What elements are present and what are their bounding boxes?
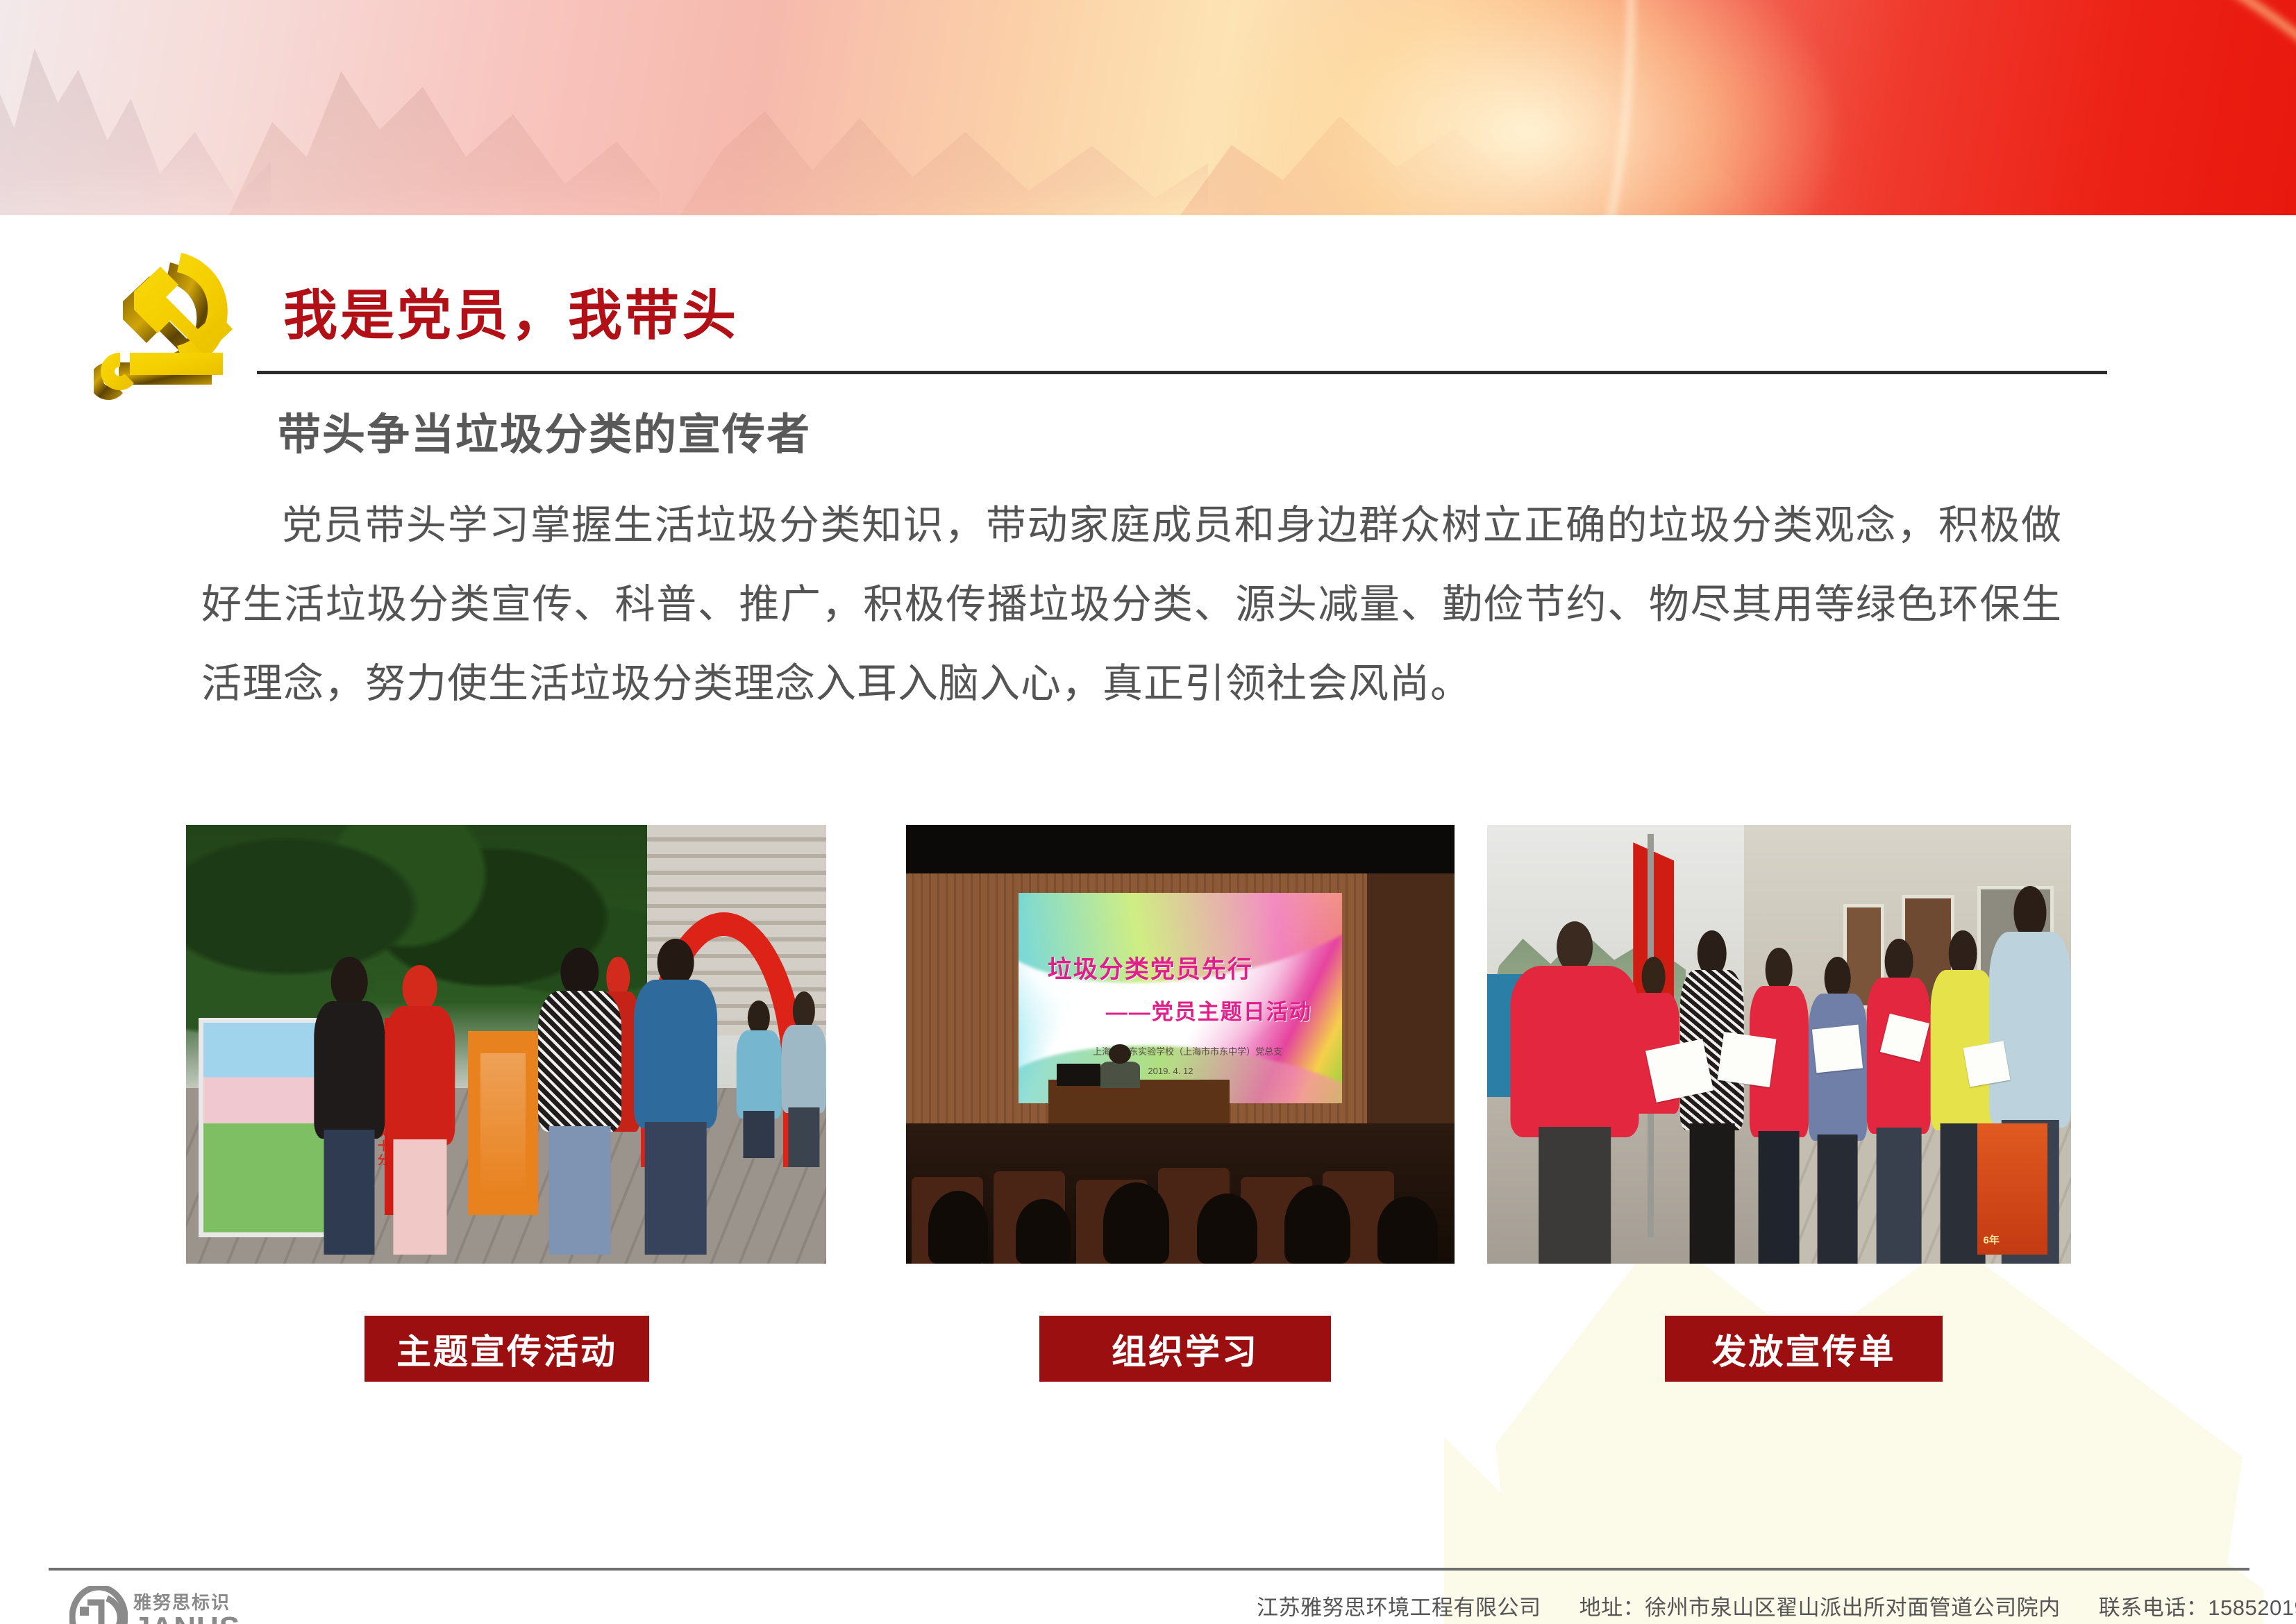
photo3-volunteer-2 [1750, 948, 1808, 1264]
caption-theme-campaign: 主题宣传活动 [364, 1316, 649, 1382]
footer-phone: 联系电话：15852019991 [2099, 1596, 2296, 1620]
photo1-person-3 [538, 948, 621, 1255]
party-hammer-sickle-emblem-icon [94, 249, 257, 401]
janus-circle-j-icon [69, 1586, 128, 1624]
slide-root: 我是党员，我带头 带头争当垃圾分类的宣传者 党员带头学习掌握生活垃圾分类知识，带… [0, 0, 2296, 1624]
photo2-ceiling [906, 825, 1455, 873]
photo2-screen-date: 2019. 4. 12 [1148, 1066, 1193, 1076]
photo3-leaflet [1718, 1032, 1777, 1087]
photo2-audience-head [1103, 1182, 1169, 1264]
photo3-shopping-bag: 6年 [1977, 1123, 2047, 1255]
photo2-audience-head [928, 1191, 989, 1264]
photo2-audience-head [1377, 1196, 1438, 1264]
photo2-audience-head [1197, 1194, 1257, 1264]
logo-english-name: JANUS VISUAL [133, 1611, 299, 1624]
body-paragraph: 党员带头学习掌握生活垃圾分类知识，带动家庭成员和身边群众树立正确的垃圾分类观念，… [201, 486, 2062, 723]
watermark-shape-a [1475, 1229, 1913, 1624]
photo3-leaflet [1812, 1024, 1863, 1073]
photo1-person-5 [737, 1001, 782, 1159]
photo-theme-campaign: 垃圾分一分 榕城美十分 [186, 825, 826, 1264]
logo-janus: JANUS [133, 1611, 240, 1624]
footer-address: 地址：徐州市泉山区翟山派出所对面管道公司院内 [1579, 1596, 2061, 1620]
page-title: 我是党员，我带头 [283, 272, 739, 350]
photo2-audience-head [1016, 1199, 1071, 1264]
photo-leaflet-distribution: 6年 [1487, 825, 2071, 1264]
janus-visual-logo: 雅努思标识 JANUS VISUAL [69, 1584, 299, 1624]
photo3-volunteer-lead [1511, 921, 1639, 1264]
party-emblem-watermark [1423, 1229, 2296, 1624]
footer-divider [49, 1568, 2249, 1571]
photo-organized-study: 垃圾分类党员先行 ——党员主题日活动 上海市市东实验学校（上海市市东中学）党总支… [906, 825, 1455, 1264]
photo2-speaker-head [1109, 1044, 1131, 1064]
photo2-speaker-body [1100, 1062, 1140, 1088]
photo1-person-volunteer [385, 965, 455, 1255]
photo1-person-4 [634, 939, 717, 1255]
photo3-volunteer-3 [1867, 939, 1932, 1264]
photo2-screen-subtitle: ——党员主题日活动 [1106, 994, 1312, 1026]
photo3-resident-2 [1809, 957, 1867, 1264]
photo2-laptop [1057, 1064, 1100, 1086]
photo3-bag-text: 6年 [1984, 1232, 2000, 1247]
photo2-screen-title: 垃圾分类党员先行 [1048, 950, 1253, 985]
caption-organized-study: 组织学习 [1039, 1316, 1331, 1382]
page-subtitle: 带头争当垃圾分类的宣传者 [278, 399, 811, 462]
photo1-person-6 [781, 991, 826, 1167]
header-divider [257, 371, 2107, 374]
footer-company: 江苏雅努思环境工程有限公司 [1257, 1596, 1541, 1620]
photo1-person-1 [314, 957, 384, 1255]
photo2-audience-head [1284, 1185, 1350, 1264]
caption-leaflet-distribution: 发放宣传单 [1665, 1316, 1943, 1382]
light-streak-5 [987, 0, 2296, 215]
photo3-resident-1 [1680, 930, 1745, 1264]
photo1-orange-board [468, 1031, 538, 1215]
photo3-leaflet [1963, 1041, 2010, 1087]
watermark-shape-b [1718, 1229, 2266, 1624]
footer-contact-info: 江苏雅努思环境工程有限公司 地址：徐州市泉山区翟山派出所对面管道公司院内 联系电… [1257, 1590, 2296, 1621]
photo2-seating-area [906, 1123, 1455, 1264]
decorative-banner [0, 0, 2296, 215]
